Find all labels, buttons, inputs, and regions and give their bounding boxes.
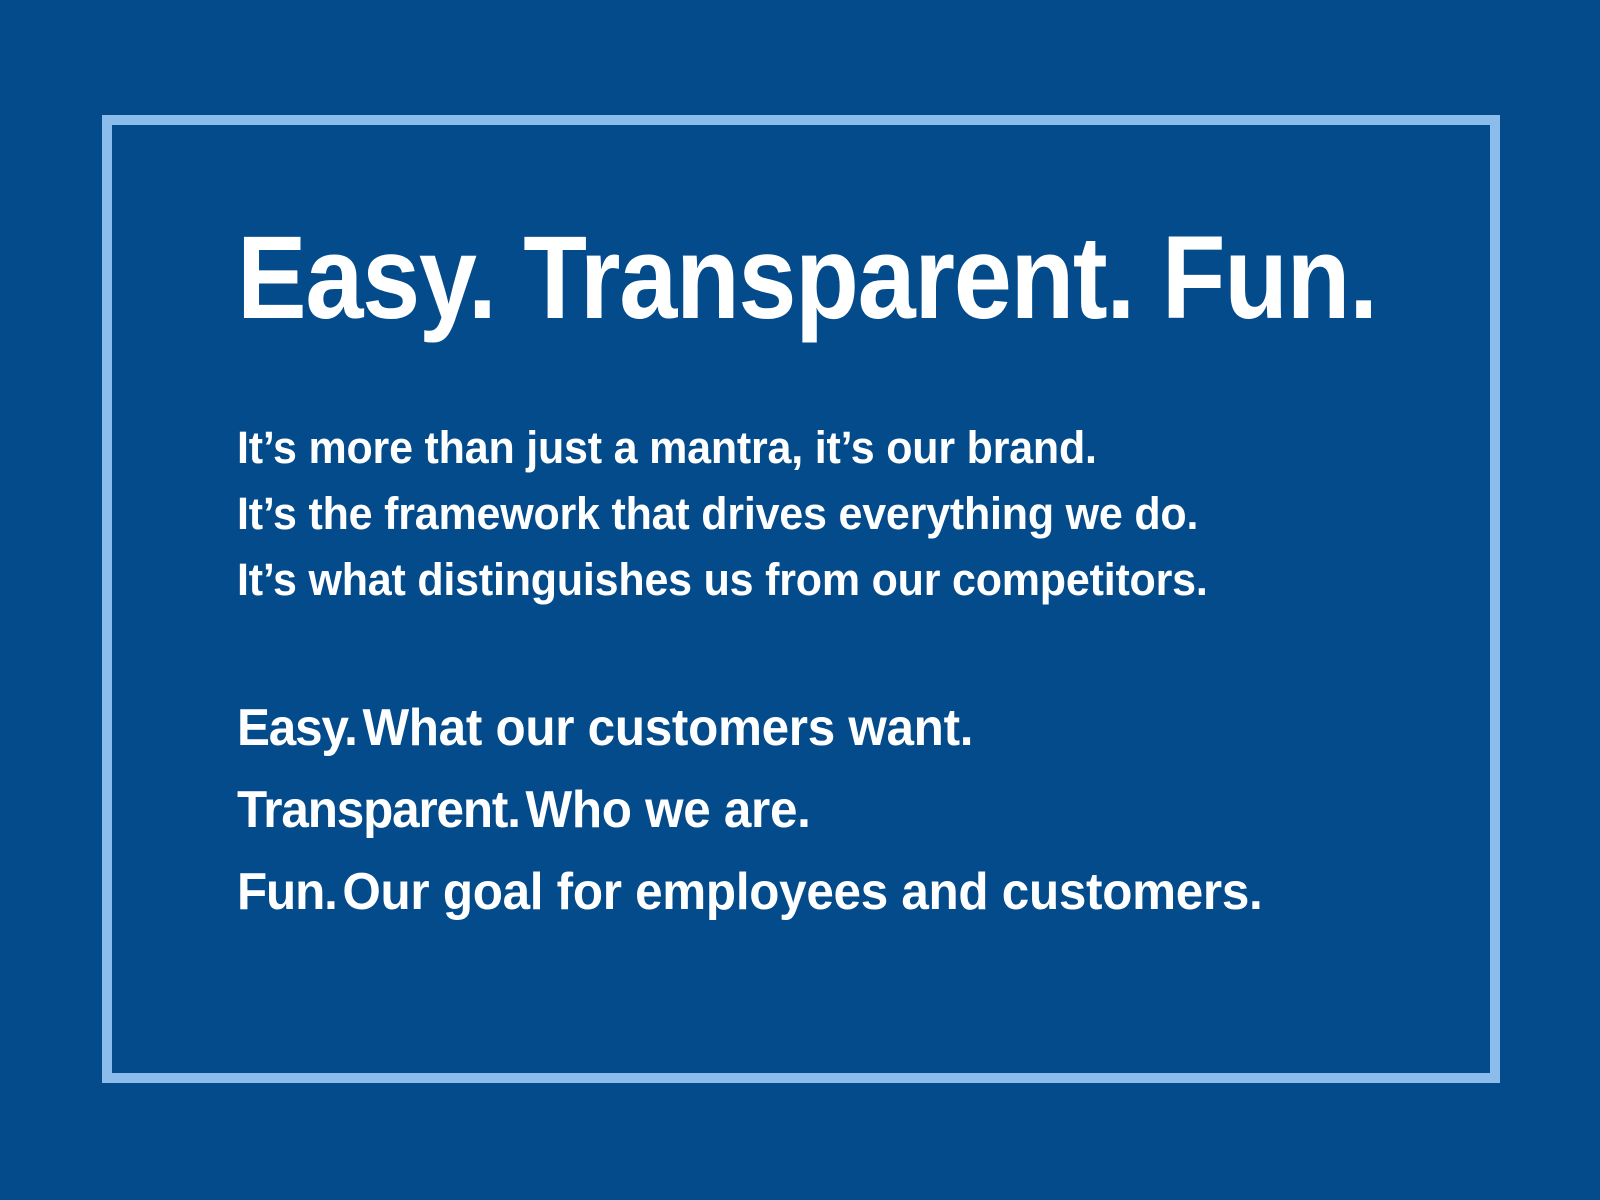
slide-content: Easy. Transparent. Fun. It’s more than j… (237, 115, 1477, 1083)
value-term: Transparent. (237, 781, 520, 839)
value-description: Our goal for employees and customers. (342, 863, 1262, 921)
intro-line: It’s more than just a mantra, it’s our b… (237, 415, 1208, 481)
intro-paragraph: It’s more than just a mantra, it’s our b… (237, 415, 1208, 613)
value-term: Easy. (237, 699, 357, 757)
brand-mantra-slide: Easy. Transparent. Fun. It’s more than j… (0, 0, 1600, 1200)
value-description: What our customers want. (362, 699, 973, 757)
page-title: Easy. Transparent. Fun. (237, 219, 1377, 337)
value-statement-easy: Easy.What our customers want. (237, 687, 1262, 769)
value-statement-list: Easy.What our customers want. Transparen… (237, 687, 1262, 933)
value-term: Fun. (237, 863, 337, 921)
value-description: Who we are. (526, 781, 811, 839)
intro-line: It’s the framework that drives everythin… (237, 481, 1208, 547)
intro-line: It’s what distinguishes us from our comp… (237, 547, 1208, 613)
value-statement-transparent: Transparent.Who we are. (237, 769, 1262, 851)
value-statement-fun: Fun.Our goal for employees and customers… (237, 851, 1262, 933)
